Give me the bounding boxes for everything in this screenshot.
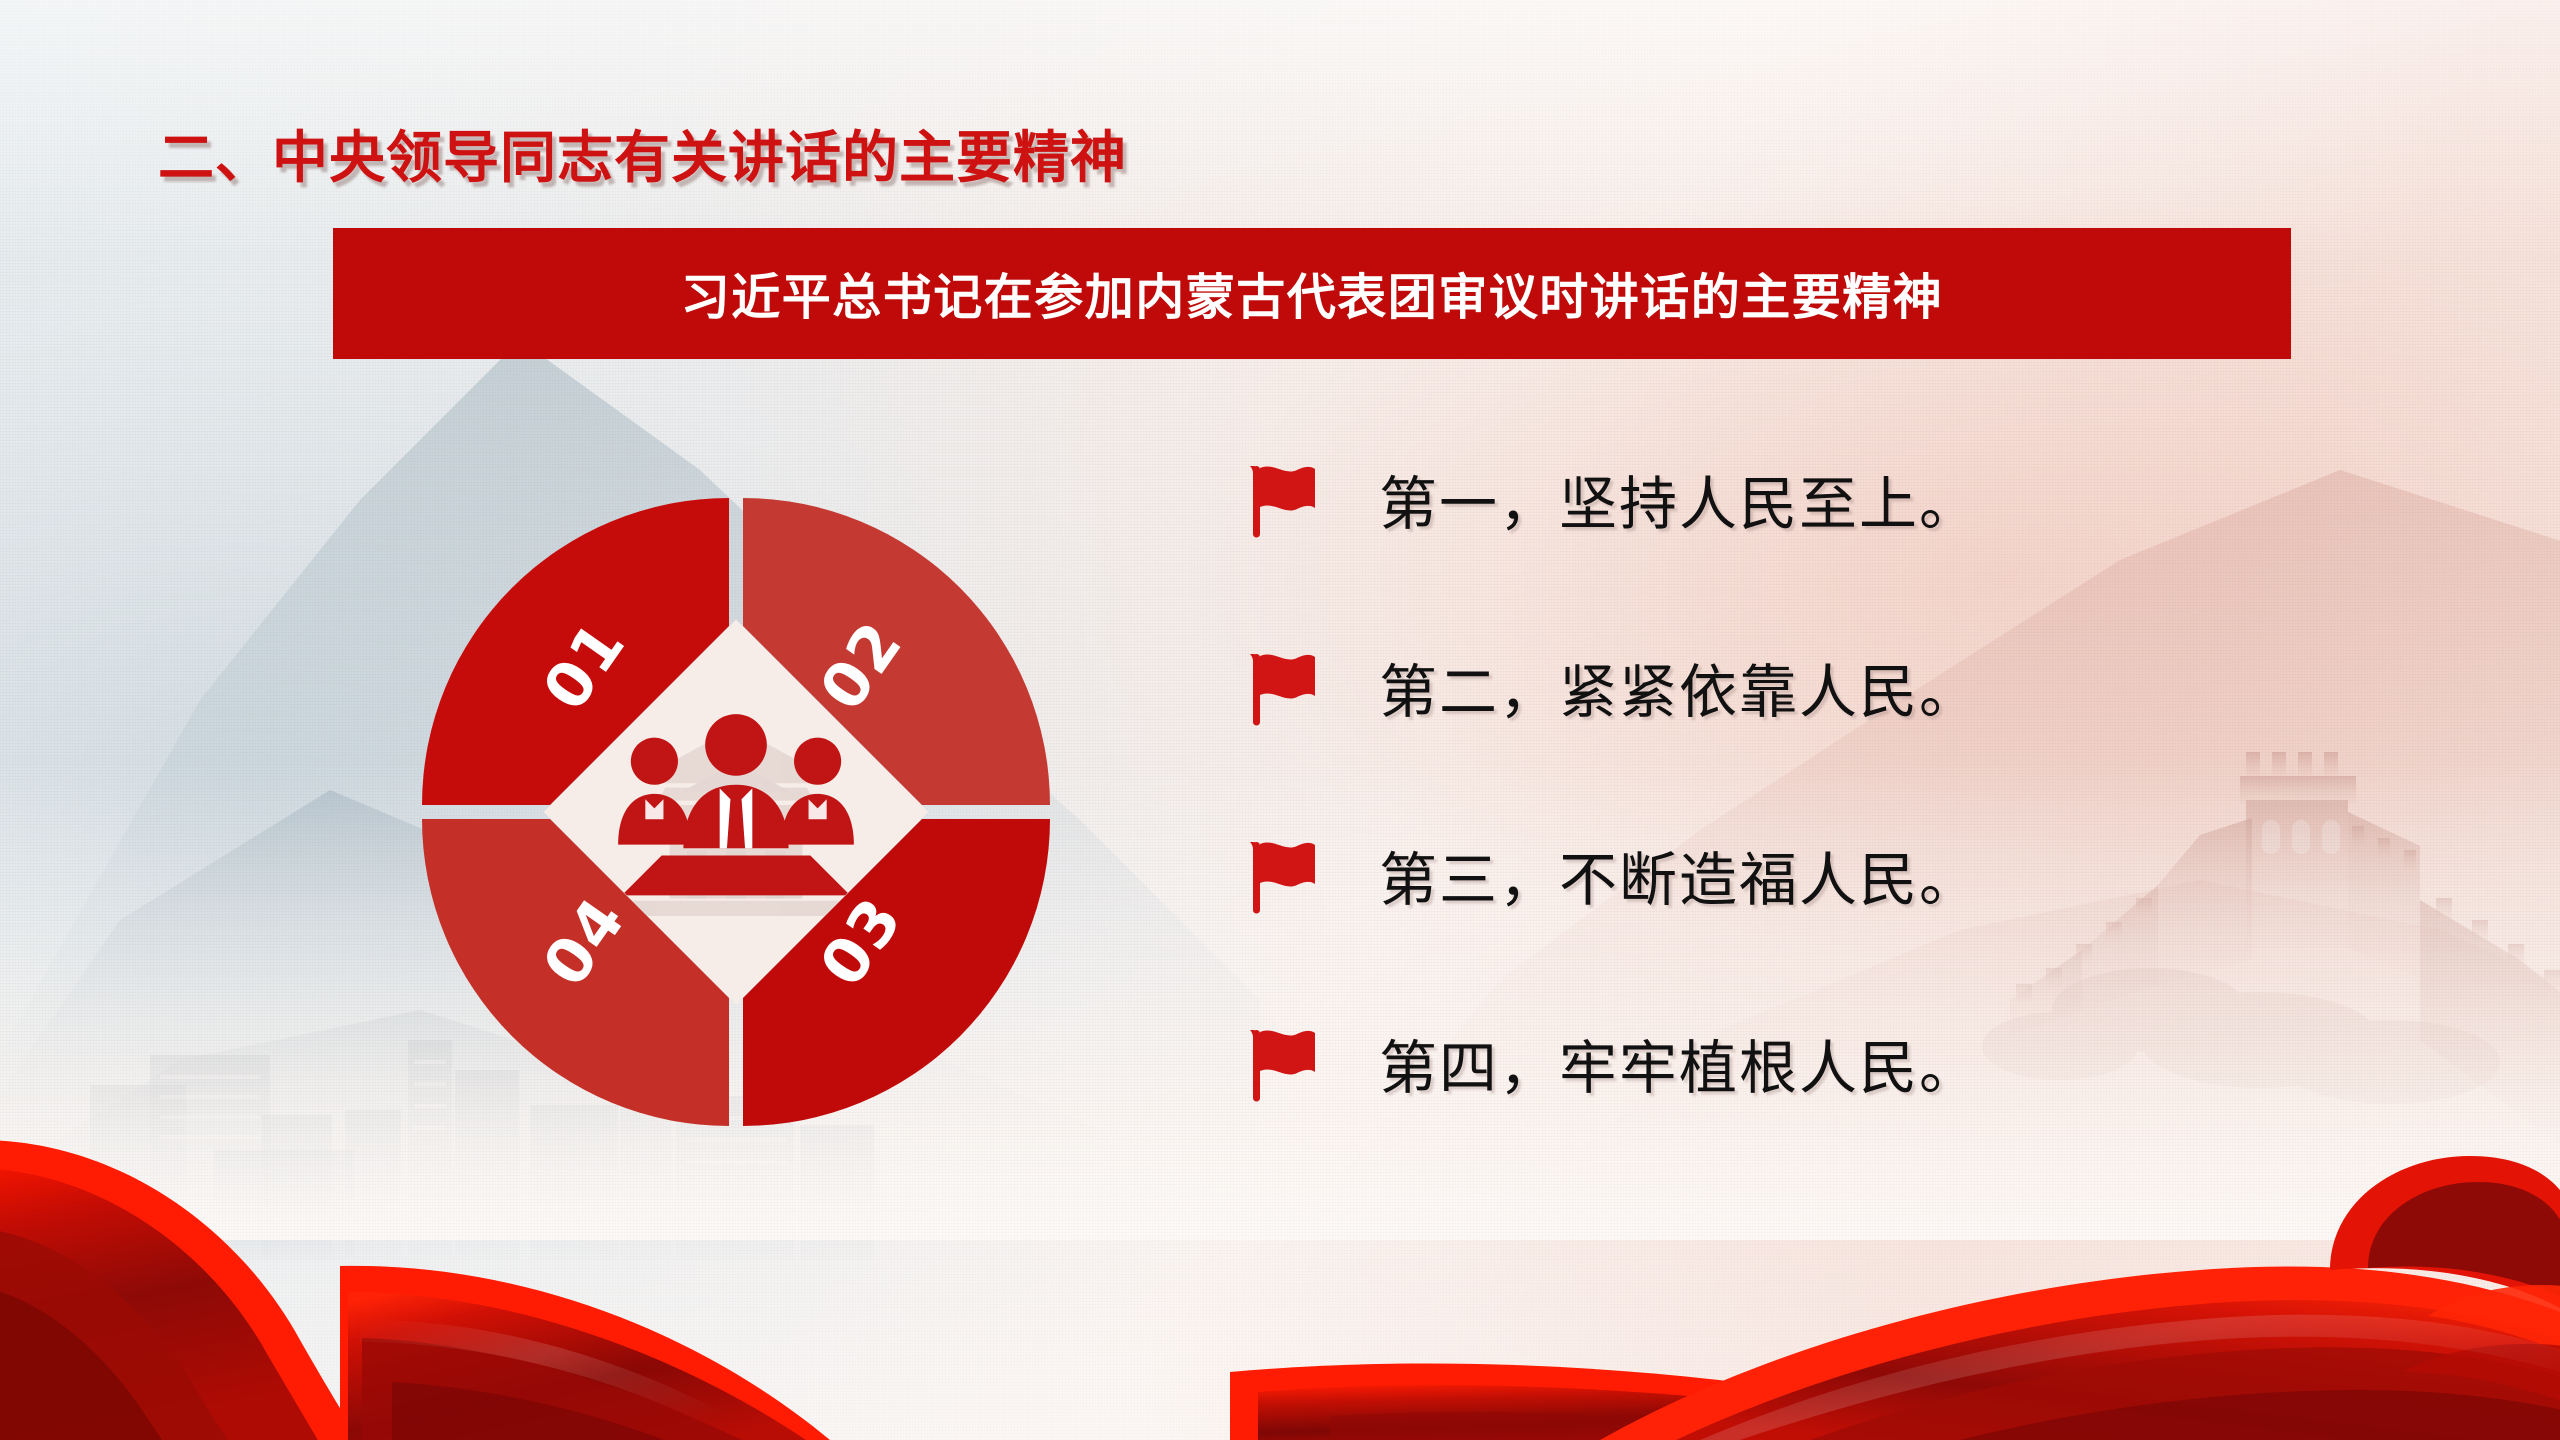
- meeting-people-icon: [600, 676, 872, 948]
- quadrant-wheel-diagram: 01 02 03 04: [421, 497, 1051, 1127]
- key-points-list: 第一，坚持人民至上。 第二，紧紧依靠人民。 第三，不断造福人民。: [1245, 438, 2345, 1124]
- red-flag-icon: [1245, 836, 1321, 914]
- list-item-label: 第一，坚持人民至上。: [1379, 457, 1979, 541]
- banner-bar: 习近平总书记在参加内蒙古代表团审议时讲话的主要精神: [333, 228, 2291, 359]
- list-item-label: 第三，不断造福人民。: [1379, 833, 1979, 917]
- red-flag-icon: [1245, 1024, 1321, 1102]
- list-item[interactable]: 第一，坚持人民至上。: [1245, 438, 2345, 560]
- list-item[interactable]: 第四，牢牢植根人民。: [1245, 1002, 2345, 1124]
- list-item[interactable]: 第二，紧紧依靠人民。: [1245, 626, 2345, 748]
- list-item[interactable]: 第三，不断造福人民。: [1245, 814, 2345, 936]
- banner-title: 习近平总书记在参加内蒙古代表团审议时讲话的主要精神: [681, 258, 1944, 329]
- list-item-label: 第四，牢牢植根人民。: [1379, 1021, 1979, 1105]
- red-flag-icon: [1245, 648, 1321, 726]
- list-item-label: 第二，紧紧依靠人民。: [1379, 645, 1979, 729]
- section-heading: 二、中央领导同志有关讲话的主要精神: [158, 113, 1127, 194]
- red-flag-icon: [1245, 460, 1321, 538]
- slide-canvas: 二、中央领导同志有关讲话的主要精神 习近平总书记在参加内蒙古代表团审议时讲话的主…: [0, 0, 2560, 1440]
